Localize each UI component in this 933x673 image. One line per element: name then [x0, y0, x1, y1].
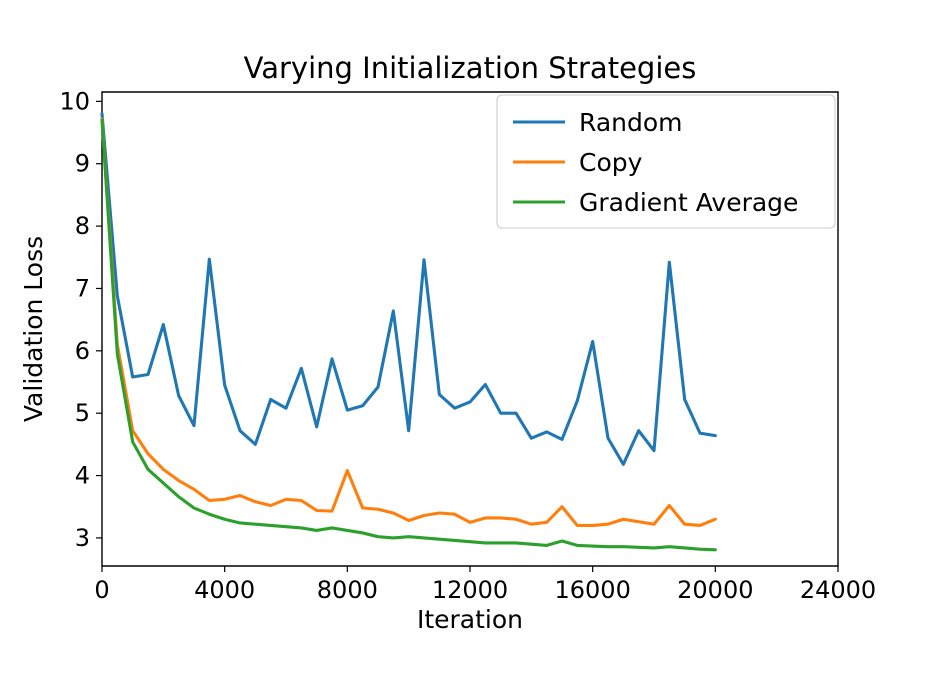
x-tick-label: 12000 [432, 576, 508, 604]
x-axis-ticks: 04000800012000160002000024000 [94, 566, 876, 604]
y-tick-label: 4 [75, 462, 90, 490]
y-axis-label: Validation Loss [19, 236, 48, 422]
y-tick-label: 7 [75, 274, 90, 302]
x-tick-label: 8000 [317, 576, 378, 604]
legend-label-random: Random [579, 108, 683, 137]
legend-label-copy: Copy [579, 148, 643, 177]
x-tick-label: 16000 [554, 576, 630, 604]
y-tick-label: 9 [75, 150, 90, 178]
chart-legend: RandomCopyGradient Average [497, 95, 835, 228]
y-axis-ticks: 345678910 [59, 87, 102, 552]
y-tick-label: 3 [75, 524, 90, 552]
figure-canvas: 04000800012000160002000024000 345678910 … [0, 0, 933, 673]
chart-title: Varying Initialization Strategies [244, 51, 697, 85]
y-tick-label: 10 [59, 87, 90, 115]
legend-label-gradient-average: Gradient Average [579, 188, 798, 217]
x-tick-label: 4000 [194, 576, 255, 604]
x-tick-label: 20000 [677, 576, 753, 604]
y-tick-label: 5 [75, 399, 90, 427]
x-tick-label: 24000 [800, 576, 876, 604]
x-axis-label: Iteration [417, 605, 523, 634]
y-tick-label: 6 [75, 337, 90, 365]
line-chart: 04000800012000160002000024000 345678910 … [0, 0, 933, 673]
y-tick-label: 8 [75, 212, 90, 240]
x-tick-label: 0 [94, 576, 109, 604]
